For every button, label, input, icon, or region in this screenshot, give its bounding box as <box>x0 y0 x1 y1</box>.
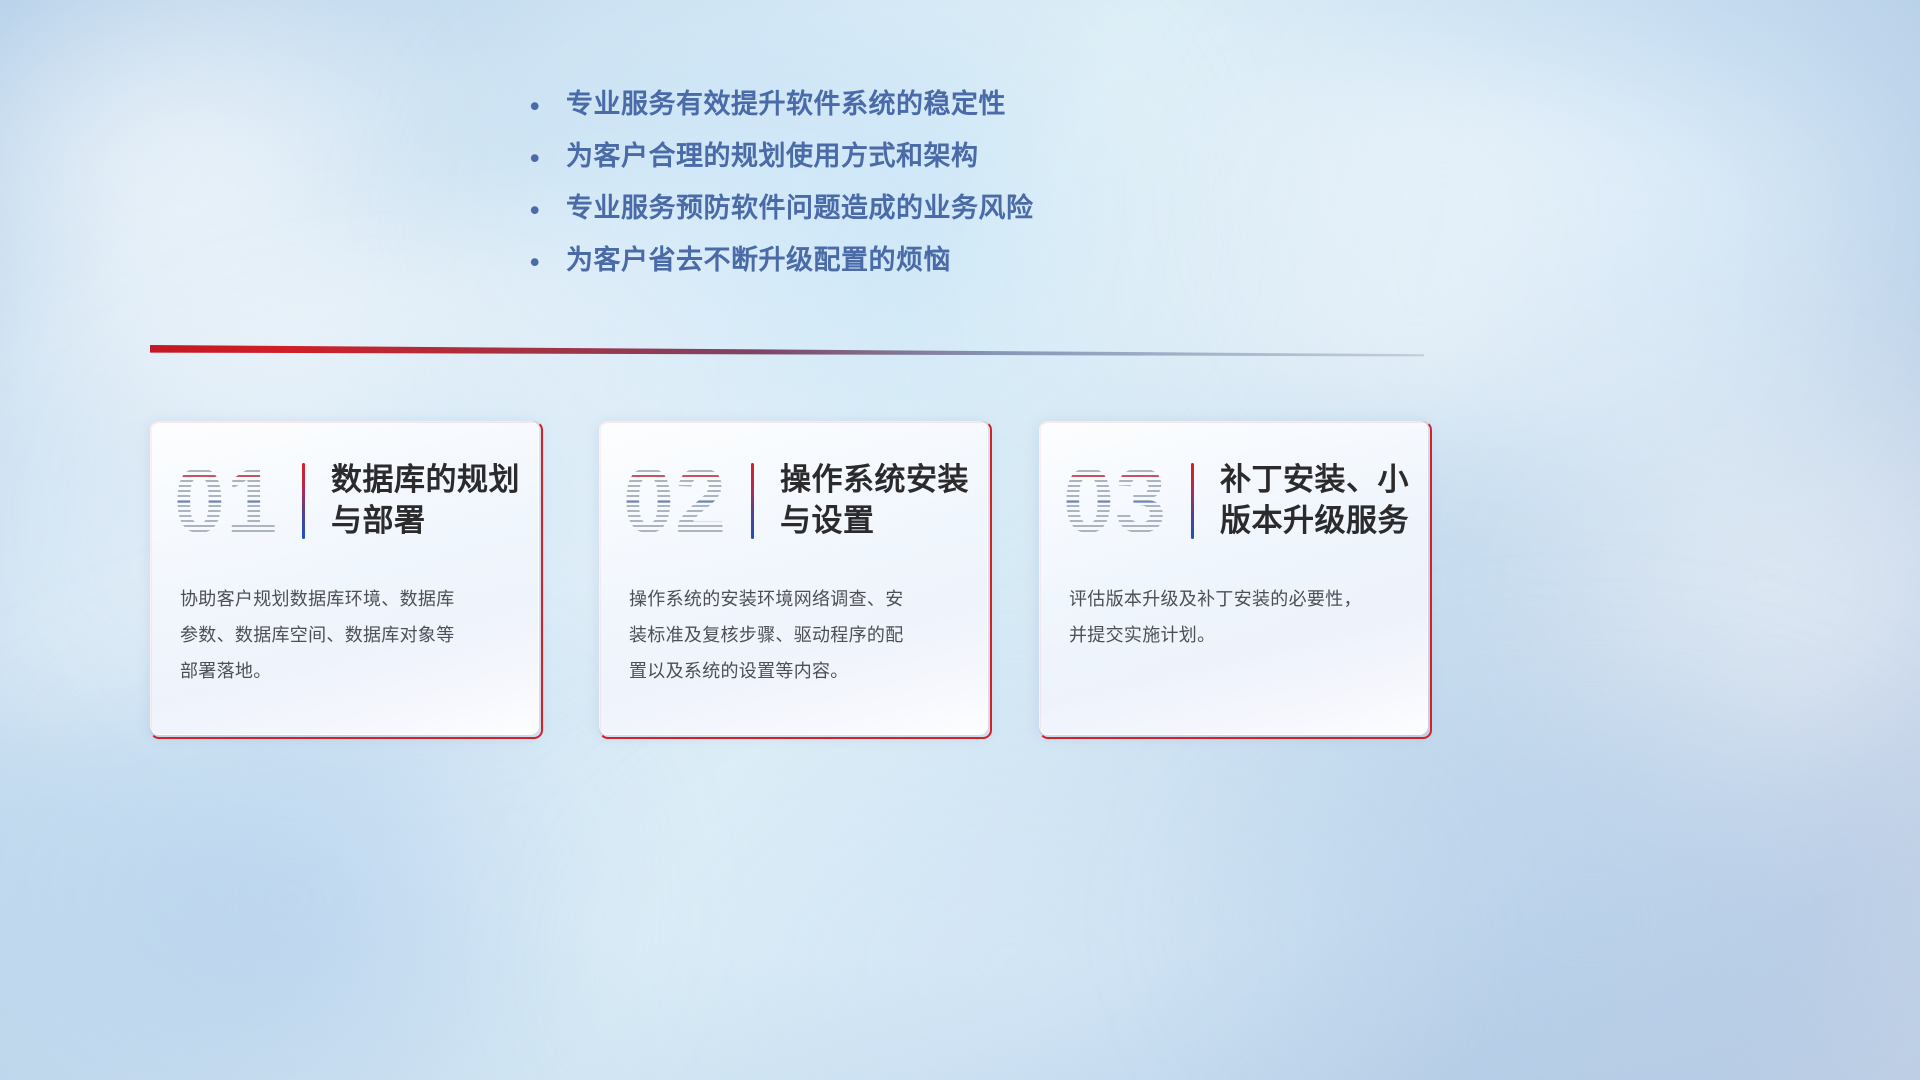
card-title: 补丁安装、小 版本升级服务 <box>1194 460 1428 542</box>
card-header: 02 02 操作系统安装 与设置 <box>599 443 988 559</box>
card-description-line1: 协助客户规划数据库环境、数据库 <box>180 581 510 617</box>
benefits-bullet-list: • 专业服务有效提升软件系统的稳定性 • 为客户合理的规划使用方式和架构 • 专… <box>530 90 1350 298</box>
bullet-marker-icon: • <box>530 246 566 276</box>
card-number-badge: 02 02 <box>599 443 751 559</box>
card-header: 03 03 补丁安装、小 版本升级服务 <box>1039 443 1428 559</box>
card-title-divider-icon <box>751 463 754 539</box>
card-number-tint: 02 <box>623 455 727 547</box>
card-number-badge: 03 03 <box>1039 443 1191 559</box>
card-surface: 01 01 数据库的规划 与部署 协助客户规划数据库环境、数据库 参数、数据库空… <box>150 421 539 735</box>
card-title-line1: 补丁安装、小 <box>1220 460 1414 501</box>
card-number-scanline-overlay: 01 <box>150 443 302 559</box>
service-card-03[interactable]: 03 03 补丁安装、小 版本升级服务 评估版本升级及补丁安装的必要性， 并提交… <box>1039 421 1432 739</box>
gradient-rule-icon <box>150 345 1424 361</box>
card-surface: 02 02 操作系统安装 与设置 操作系统的安装环境网络调查、安 装标准及复核步… <box>599 421 988 735</box>
card-title-line2: 与部署 <box>331 501 525 542</box>
card-number: 02 <box>623 455 727 547</box>
card-description-line3: 部署落地。 <box>180 653 510 689</box>
card-title-line1: 数据库的规划 <box>331 460 525 501</box>
bullet-item: • 为客户合理的规划使用方式和架构 <box>530 142 1350 194</box>
card-title-line1: 操作系统安装 <box>780 460 974 501</box>
card-description-line1: 操作系统的安装环境网络调查、安 <box>629 581 959 617</box>
bullet-text: 为客户省去不断升级配置的烦恼 <box>566 246 951 276</box>
card-title-divider-icon <box>1191 463 1194 539</box>
bullet-text: 专业服务有效提升软件系统的稳定性 <box>566 90 1006 120</box>
bullet-item: • 专业服务有效提升软件系统的稳定性 <box>530 90 1350 142</box>
bullet-text: 为客户合理的规划使用方式和架构 <box>566 142 979 172</box>
card-description: 操作系统的安装环境网络调查、安 装标准及复核步骤、驱动程序的配 置以及系统的设置… <box>629 581 959 689</box>
card-title-divider-icon <box>302 463 305 539</box>
card-number: 03 <box>1063 455 1167 547</box>
card-title-line2: 与设置 <box>780 501 974 542</box>
card-description: 评估版本升级及补丁安装的必要性， 并提交实施计划。 <box>1069 581 1399 653</box>
card-description-line1: 评估版本升级及补丁安装的必要性， <box>1069 581 1399 617</box>
card-title: 数据库的规划 与部署 <box>305 460 539 542</box>
card-title: 操作系统安装 与设置 <box>754 460 988 542</box>
service-card-row: 01 01 数据库的规划 与部署 协助客户规划数据库环境、数据库 参数、数据库空… <box>150 421 1770 743</box>
bullet-marker-icon: • <box>530 142 566 172</box>
card-description-line2: 参数、数据库空间、数据库对象等 <box>180 617 510 653</box>
bullet-item: • 专业服务预防软件问题造成的业务风险 <box>530 194 1350 246</box>
card-number-scanline-overlay: 03 <box>1039 443 1191 559</box>
card-number-tint: 01 <box>174 455 278 547</box>
card-description-line3: 置以及系统的设置等内容。 <box>629 653 959 689</box>
card-description-line2: 装标准及复核步骤、驱动程序的配 <box>629 617 959 653</box>
card-number-scanline-overlay: 02 <box>599 443 751 559</box>
card-surface: 03 03 补丁安装、小 版本升级服务 评估版本升级及补丁安装的必要性， 并提交… <box>1039 421 1428 735</box>
bullet-text: 专业服务预防软件问题造成的业务风险 <box>566 194 1034 224</box>
service-card-01[interactable]: 01 01 数据库的规划 与部署 协助客户规划数据库环境、数据库 参数、数据库空… <box>150 421 543 739</box>
section-divider <box>150 345 1424 361</box>
bullet-marker-icon: • <box>530 194 566 224</box>
card-number-badge: 01 01 <box>150 443 302 559</box>
card-description: 协助客户规划数据库环境、数据库 参数、数据库空间、数据库对象等 部署落地。 <box>180 581 510 689</box>
bullet-marker-icon: • <box>530 90 566 120</box>
card-header: 01 01 数据库的规划 与部署 <box>150 443 539 559</box>
card-number-tint: 03 <box>1063 455 1167 547</box>
card-number: 01 <box>174 455 278 547</box>
service-card-02[interactable]: 02 02 操作系统安装 与设置 操作系统的安装环境网络调查、安 装标准及复核步… <box>599 421 992 739</box>
card-title-line2: 版本升级服务 <box>1220 501 1414 542</box>
bullet-item: • 为客户省去不断升级配置的烦恼 <box>530 246 1350 298</box>
card-description-line2: 并提交实施计划。 <box>1069 617 1399 653</box>
